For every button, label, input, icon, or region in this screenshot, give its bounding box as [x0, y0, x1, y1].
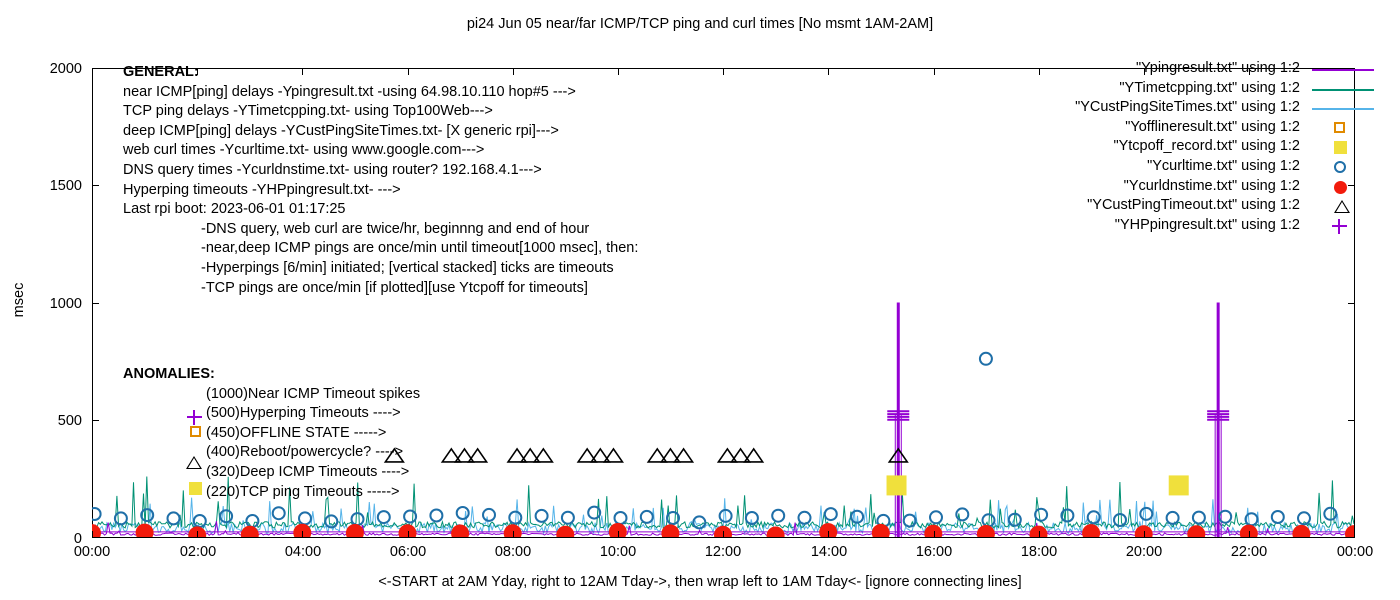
x-tick-mark: [408, 531, 409, 538]
anomaly-item: (1000)Near ICMP Timeout spikes: [123, 385, 420, 405]
anomaly-item: (450)OFFLINE STATE ----->: [123, 424, 420, 444]
legend-key: [1312, 138, 1378, 158]
general-line: web curl times -Ycurltime.txt- using www…: [123, 141, 638, 161]
x-tick-mark: [723, 68, 724, 75]
legend-row: "YTimetcpping.txt" using 1:2: [1000, 80, 1300, 100]
general-heading: GENERAL:: [123, 63, 638, 83]
legend-key: [1312, 99, 1378, 119]
legend-key: [1312, 80, 1378, 100]
legend-label: "Ytcpoff_record.txt" using 1:2: [1113, 138, 1300, 154]
legend-row: "Ycurltime.txt" using 1:2: [1000, 158, 1300, 178]
general-note: -Hyperpings [6/min] initiated; [vertical…: [123, 259, 638, 279]
anomalies-heading: ANOMALIES:: [123, 365, 420, 385]
general-line: deep ICMP[ping] delays -YCustPingSiteTim…: [123, 122, 638, 142]
x-tick-mark: [934, 68, 935, 75]
legend-label: "Yofflineresult.txt" using 1:2: [1125, 119, 1300, 135]
legend-key: [1312, 158, 1378, 178]
x-tick-mark: [828, 531, 829, 538]
x-tick-mark: [723, 531, 724, 538]
x-tick-mark: [1144, 531, 1145, 538]
legend-key: [1312, 217, 1378, 237]
anomaly-item: (500)Hyperping Timeouts ---->: [123, 404, 420, 424]
x-tick-label: 04:00: [268, 544, 338, 560]
anomaly-item: (320)Deep ICMP Timeouts ---->: [123, 463, 420, 483]
general-line: Hyperping timeouts -YHPpingresult.txt- -…: [123, 181, 638, 201]
general-line: DNS query times -Ycurldnstime.txt- using…: [123, 161, 638, 181]
x-tick-label: 02:00: [163, 544, 233, 560]
open-circle-icon: [1334, 161, 1346, 173]
legend-row: "YCustPingSiteTimes.txt" using 1:2: [1000, 99, 1300, 119]
legend-label: "YHPpingresult.txt" using 1:2: [1115, 217, 1300, 233]
legend-label: "YTimetcpping.txt" using 1:2: [1119, 80, 1300, 96]
legend-row: "Ypingresult.txt" using 1:2: [1000, 60, 1300, 80]
plus-icon: [187, 410, 202, 425]
general-line: TCP ping delays -YTimetcpping.txt- using…: [123, 102, 638, 122]
x-tick-label: 00:00: [57, 544, 127, 560]
x-tick-label: 12:00: [688, 544, 758, 560]
x-tick-mark: [302, 531, 303, 538]
filled-circle-icon: [1334, 181, 1347, 194]
legend: "Ypingresult.txt" using 1:2 "YTimetcppin…: [1000, 60, 1300, 236]
filled-square-icon: [1334, 141, 1347, 154]
general-line: near ICMP[ping] delays -Ypingresult.txt …: [123, 83, 638, 103]
y-tick-500: 500: [12, 413, 82, 429]
y-tick-1500: 1500: [12, 178, 82, 194]
plus-icon: [1332, 219, 1347, 234]
legend-row: "Ycurldnstime.txt" using 1:2: [1000, 178, 1300, 198]
open-square-icon: [190, 426, 201, 437]
x-tick-label: 10:00: [583, 544, 653, 560]
x-tick-label: 14:00: [794, 544, 864, 560]
legend-label: "YCustPingSiteTimes.txt" using 1:2: [1075, 99, 1300, 115]
x-tick-mark: [618, 531, 619, 538]
x-tick-mark: [934, 531, 935, 538]
x-tick-label: 16:00: [899, 544, 969, 560]
x-tick-label: 06:00: [373, 544, 443, 560]
legend-label: "Ycurltime.txt" using 1:2: [1147, 158, 1300, 174]
anomaly-item: (400)Reboot/powercycle? ---->: [123, 443, 420, 463]
legend-row: "Ytcpoff_record.txt" using 1:2: [1000, 138, 1300, 158]
filled-square-icon: [189, 482, 202, 495]
open-square-icon: [1334, 122, 1345, 133]
legend-key: [1312, 178, 1378, 198]
x-axis-caption: <-START at 2AM Yday, right to 12AM Tday-…: [0, 574, 1400, 590]
y-tick-2000: 2000: [12, 61, 82, 77]
legend-key: [1312, 60, 1378, 80]
chart-page: pi24 Jun 05 near/far ICMP/TCP ping and c…: [0, 0, 1400, 600]
x-tick-mark: [828, 68, 829, 75]
open-triangle-icon: [186, 456, 202, 469]
x-tick-label: 18:00: [1004, 544, 1074, 560]
legend-row: "YHPpingresult.txt" using 1:2: [1000, 217, 1300, 237]
x-tick-mark: [197, 531, 198, 538]
legend-label: "Ypingresult.txt" using 1:2: [1136, 60, 1300, 76]
y-tick-1000: 1000: [12, 296, 82, 312]
x-tick-mark: [1249, 531, 1250, 538]
general-annotation: GENERAL: near ICMP[ping] delays -Ypingre…: [123, 63, 638, 298]
page-title: pi24 Jun 05 near/far ICMP/TCP ping and c…: [0, 16, 1400, 32]
legend-key: [1312, 119, 1378, 139]
x-tick-mark: [1354, 531, 1355, 538]
x-tick-label: 08:00: [478, 544, 548, 560]
open-triangle-icon: [1334, 200, 1350, 213]
x-tick-label: 00:00: [1320, 544, 1390, 560]
legend-key: [1312, 197, 1378, 217]
anomaly-item: (220)TCP ping Timeouts ----->: [123, 483, 420, 503]
x-tick-mark: [92, 531, 93, 538]
general-note: -DNS query, web curl are twice/hr, begin…: [123, 220, 638, 240]
legend-row: "YCustPingTimeout.txt" using 1:2: [1000, 197, 1300, 217]
general-line: Last rpi boot: 2023-06-01 01:17:25: [123, 200, 638, 220]
general-note: -near,deep ICMP pings are once/min until…: [123, 239, 638, 259]
legend-label: "YCustPingTimeout.txt" using 1:2: [1087, 197, 1300, 213]
anomalies-annotation: ANOMALIES: (1000)Near ICMP Timeout spike…: [123, 365, 420, 502]
legend-row: "Yofflineresult.txt" using 1:2: [1000, 119, 1300, 139]
x-tick-label: 22:00: [1214, 544, 1284, 560]
x-tick-mark: [1039, 531, 1040, 538]
x-tick-mark: [513, 531, 514, 538]
x-tick-label: 20:00: [1109, 544, 1179, 560]
legend-label: "Ycurldnstime.txt" using 1:2: [1124, 178, 1300, 194]
general-note: -TCP pings are once/min [if plotted][use…: [123, 279, 638, 299]
